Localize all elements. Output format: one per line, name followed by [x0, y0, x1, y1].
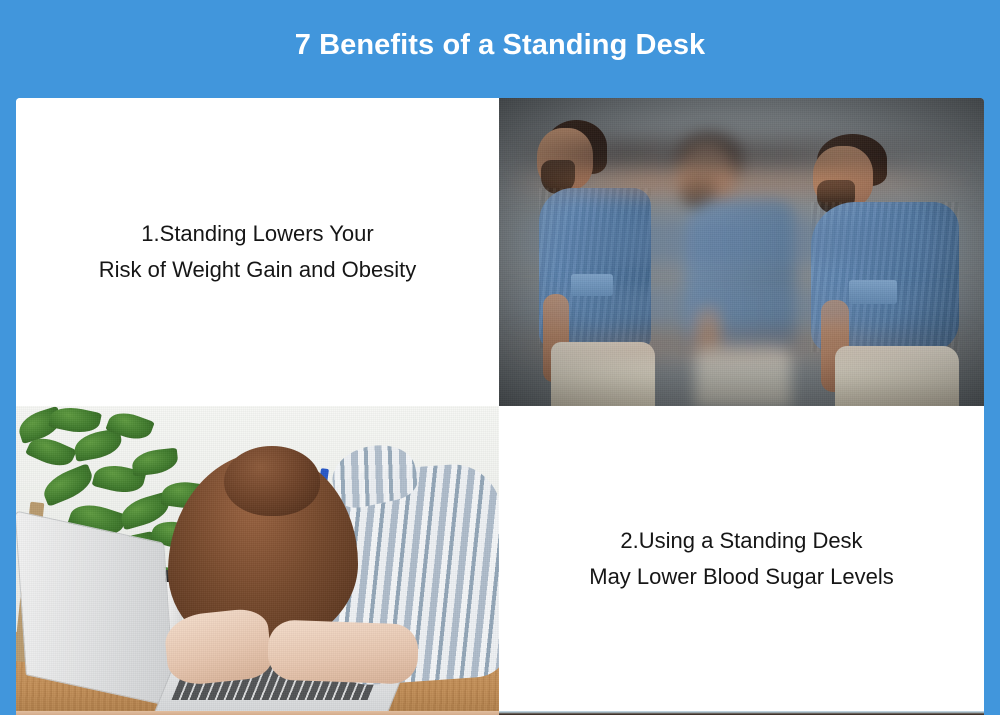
- benefit-1-title-line-1: 1.Standing Lowers Your: [141, 216, 373, 252]
- man2-trousers: [695, 346, 791, 406]
- woman-hair-bun: [224, 446, 320, 516]
- benefit-1-text-panel: 1.Standing Lowers Your Risk of Weight Ga…: [16, 98, 499, 406]
- benefit-1-title-line-2: Risk of Weight Gain and Obesity: [99, 252, 417, 288]
- man3-trousers: [835, 346, 959, 406]
- tired-woman-laptop-photo: [16, 406, 499, 711]
- woman-arm-on-desk: [267, 619, 419, 684]
- benefits-grid: 1.Standing Lowers Your Risk of Weight Ga…: [16, 98, 984, 715]
- man3-sleeve-cuff: [849, 280, 897, 304]
- benefit-3-left-cell-partial: [16, 711, 499, 715]
- page-title: 7 Benefits of a Standing Desk: [295, 31, 706, 60]
- benefit-2-text-panel: 2.Using a Standing Desk May Lower Blood …: [499, 406, 984, 711]
- man1-trousers: [551, 342, 655, 406]
- third-benefit-photo-partial: [499, 711, 984, 715]
- page-header: 7 Benefits of a Standing Desk: [0, 0, 1000, 98]
- man1-sleeve-cuff: [571, 274, 613, 296]
- benefit-2-title-line-1: 2.Using a Standing Desk: [620, 523, 862, 559]
- three-men-posture-photo: [499, 98, 984, 406]
- laptop-screen-lid: [16, 510, 175, 707]
- benefits-card: 1.Standing Lowers Your Risk of Weight Ga…: [16, 98, 984, 715]
- infographic-page: 7 Benefits of a Standing Desk 1.Standing…: [0, 0, 1000, 715]
- benefit-2-title-line-2: May Lower Blood Sugar Levels: [589, 559, 894, 595]
